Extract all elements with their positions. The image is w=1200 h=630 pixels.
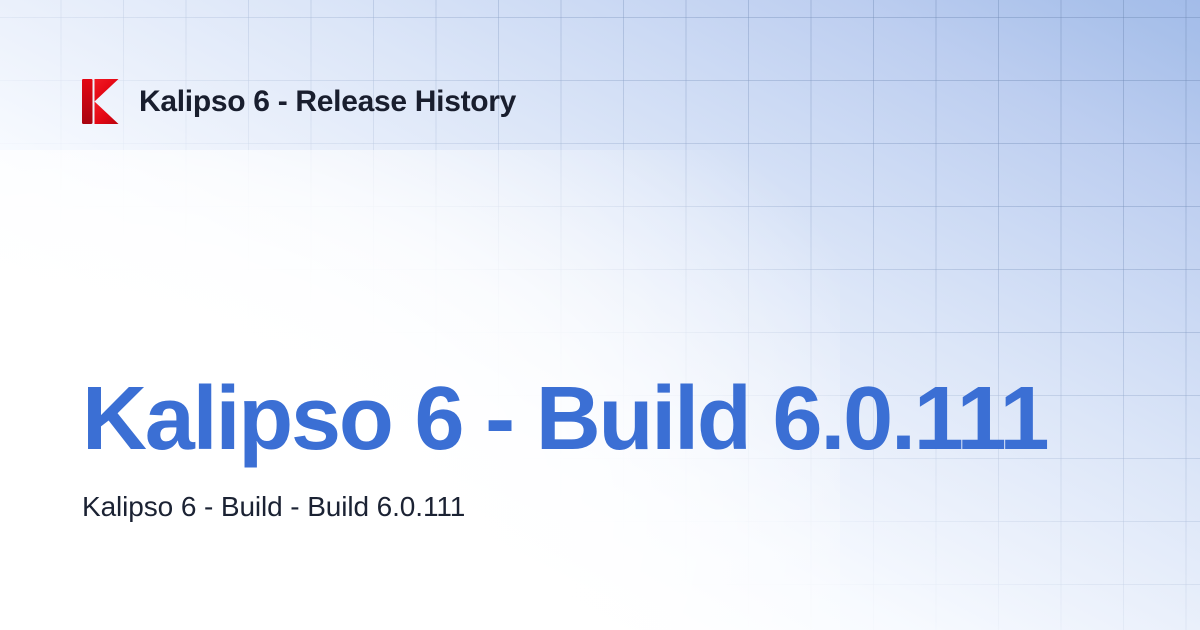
brand-header: Kalipso 6 - Release History	[82, 79, 516, 124]
card-content: Kalipso 6 - Release History Kalipso 6 - …	[0, 0, 1200, 630]
brand-title: Kalipso 6 - Release History	[139, 87, 516, 117]
page-subtitle: Kalipso 6 - Build - Build 6.0.111	[82, 489, 1142, 524]
hero-block: Kalipso 6 - Build 6.0.111 Kalipso 6 - Bu…	[82, 372, 1142, 524]
page-title: Kalipso 6 - Build 6.0.111	[82, 372, 1142, 467]
release-history-card: Kalipso 6 - Release History Kalipso 6 - …	[0, 0, 1200, 630]
kalipso-k-logo-icon	[82, 79, 121, 124]
